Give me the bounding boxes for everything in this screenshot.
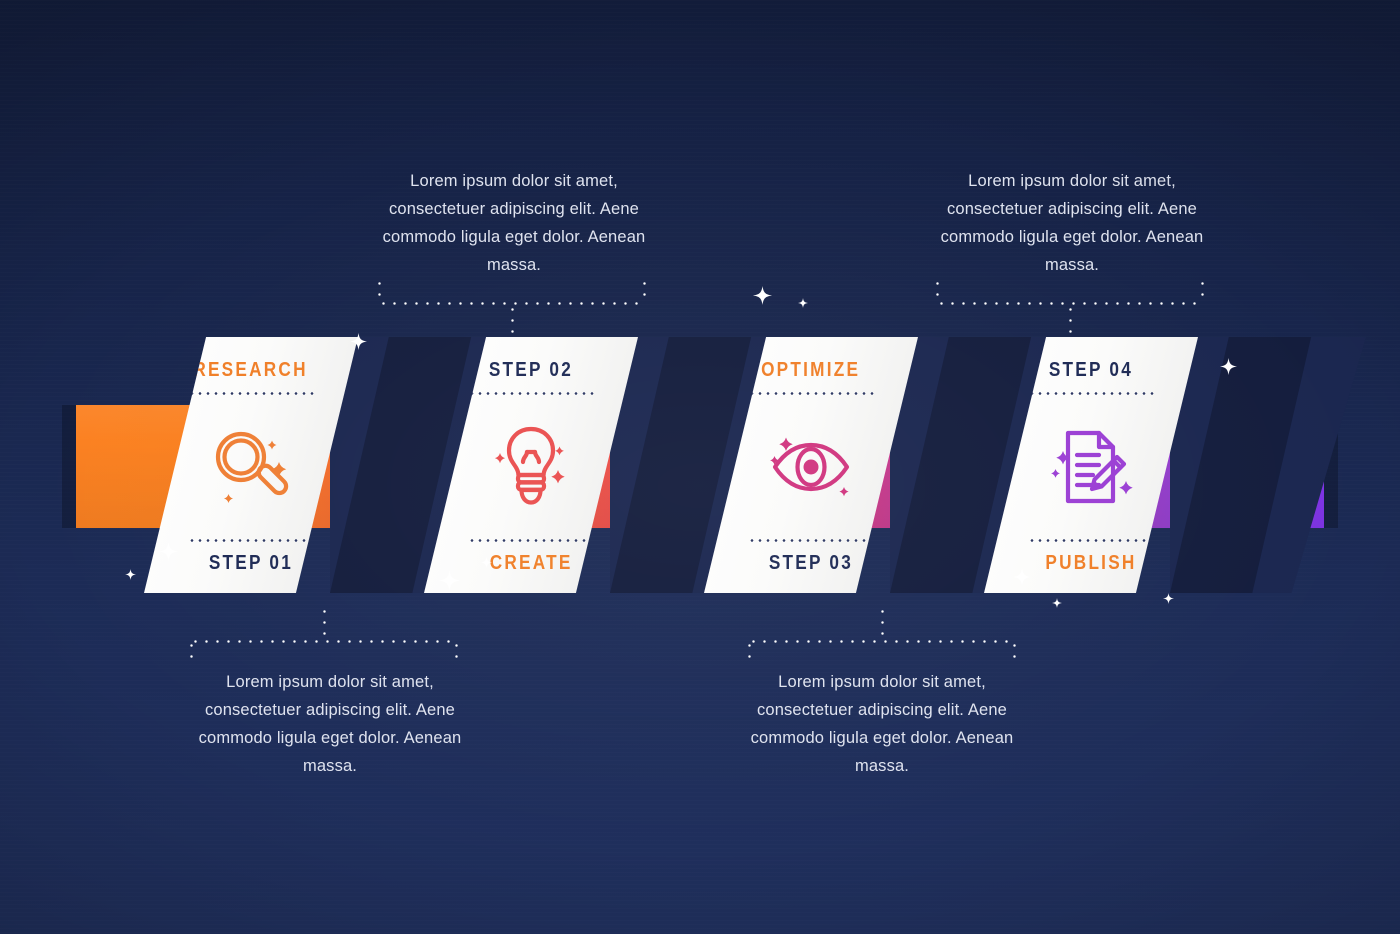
connector-stub [881, 606, 884, 642]
connector-stub [323, 606, 326, 642]
step-card-bottom-label: STEP 01 [209, 552, 293, 575]
dotted-connector-step-02 [378, 278, 646, 338]
ribbon-end-cap-left [62, 405, 76, 528]
sparkle-icon [350, 333, 367, 350]
dotted-divider [188, 539, 314, 542]
dotted-divider [468, 539, 594, 542]
step-card-top-label: RESEARCH [194, 359, 308, 382]
sparkle-icon [753, 286, 772, 305]
connector-arm-left [190, 640, 193, 666]
sparkle-icon [1220, 358, 1237, 375]
connector-stub [511, 304, 514, 338]
sparkle-icon [159, 542, 178, 561]
dotted-connector-step-03 [748, 606, 1016, 666]
dotted-divider [1028, 539, 1154, 542]
sparkle-icon [1013, 568, 1031, 586]
step-card-top-label: STEP 02 [489, 359, 573, 382]
connector-arm-left [748, 640, 751, 666]
step-card-top-label: STEP 04 [1049, 359, 1133, 382]
step-card-top-label: OPTIMIZE [761, 359, 860, 382]
connector-arm-right [1201, 278, 1204, 304]
step-card-bottom-label: CREATE [490, 552, 573, 575]
step-description-step-03: Lorem ipsum dolor sit amet, consectetuer… [750, 668, 1014, 780]
connector-arm-right [643, 278, 646, 304]
infographic-canvas: RESEARCH STEP 01 [0, 0, 1400, 934]
connector-arm-right [1013, 640, 1016, 666]
connector-arm-left [378, 278, 381, 304]
sparkle-icon [481, 557, 492, 568]
step-description-step-01: Lorem ipsum dolor sit amet, consectetuer… [198, 668, 462, 780]
dotted-connector-step-04 [936, 278, 1204, 338]
sparkle-icon [798, 298, 808, 308]
connector-stub [1069, 304, 1072, 338]
sparkle-icon [439, 570, 460, 591]
dotted-divider [748, 539, 874, 542]
step-card-bottom-label: PUBLISH [1045, 552, 1136, 575]
sparkle-icon [1052, 598, 1062, 608]
step-card-bottom-label: STEP 03 [769, 552, 853, 575]
connector-arm-right [455, 640, 458, 666]
sparkle-icon [125, 569, 136, 580]
connector-arm-left [936, 278, 939, 304]
dotted-connector-step-01 [190, 606, 458, 666]
sparkle-icon [1163, 593, 1174, 604]
step-description-step-04: Lorem ipsum dolor sit amet, consectetuer… [940, 167, 1204, 279]
step-description-step-02: Lorem ipsum dolor sit amet, consectetuer… [382, 167, 646, 279]
